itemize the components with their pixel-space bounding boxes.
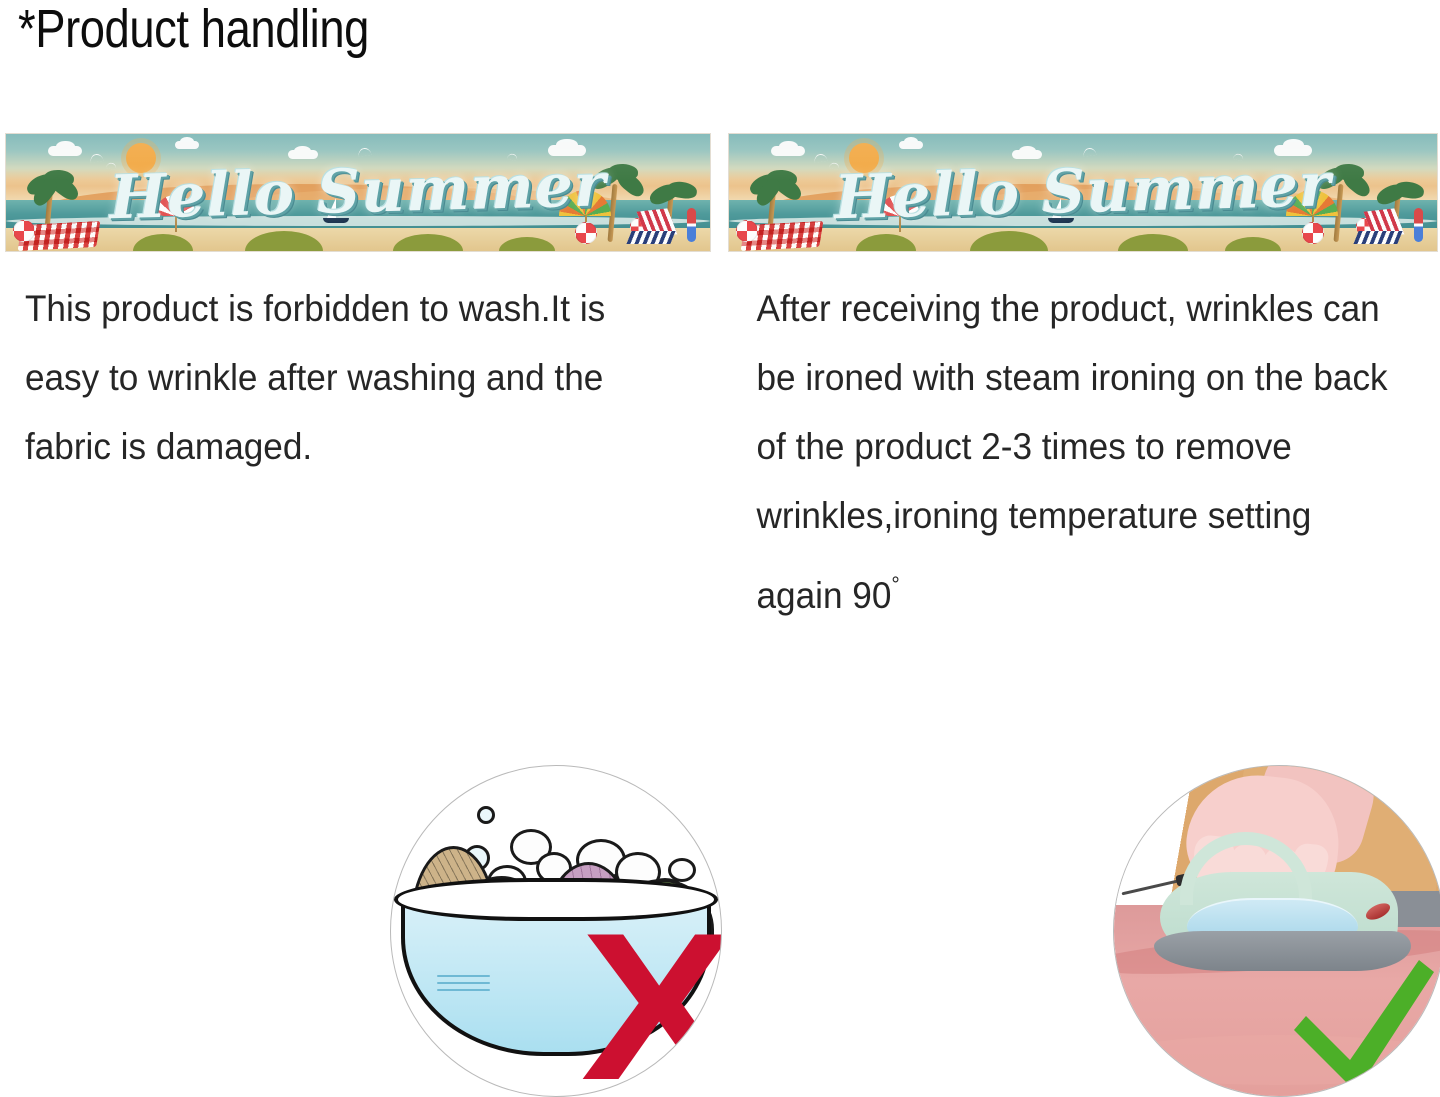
surfboard-icon: [1414, 208, 1423, 242]
column-steam-iron: Hello Summer After receiving the product…: [728, 133, 1438, 630]
beach-ball-icon: [1302, 222, 1324, 244]
hello-summer-banner-right: Hello Summer: [728, 133, 1438, 252]
surfboard-icon: [687, 208, 696, 242]
cloud-icon: [771, 146, 805, 156]
no-wash-illustration: X: [390, 765, 722, 1097]
banner-wordmark: Hello Summer: [109, 155, 607, 228]
cloud-icon: [899, 141, 923, 149]
degree-symbol: °: [891, 572, 899, 597]
deck-chair-icon: [1356, 210, 1402, 244]
hello-summer-banner-left: Hello Summer: [5, 133, 711, 252]
page-title: *Product handling: [18, 0, 369, 60]
beach-ball-icon: [13, 220, 35, 242]
steam-iron-instruction-main: After receiving the product, wrinkles ca…: [757, 288, 1388, 616]
foam-icon: [668, 858, 696, 882]
steam-iron-illustration: [1113, 765, 1440, 1097]
cloud-icon: [48, 146, 82, 156]
bubble-icon: [477, 806, 495, 824]
deck-chair-icon: [629, 210, 675, 244]
column-no-wash: Hello Summer This product is forbidden t…: [5, 133, 711, 481]
beach-ball-icon: [736, 220, 758, 242]
basin-shine: [437, 975, 490, 977]
allowed-check-icon: [1288, 956, 1438, 1096]
cloud-icon: [175, 141, 199, 149]
steam-iron-instruction-text: After receiving the product, wrinkles ca…: [728, 274, 1403, 630]
no-wash-instruction-text: This product is forbidden to wash.It is …: [5, 274, 676, 481]
forbidden-x-icon: X: [581, 912, 722, 1097]
banner-wordmark: Hello Summer: [834, 155, 1332, 228]
